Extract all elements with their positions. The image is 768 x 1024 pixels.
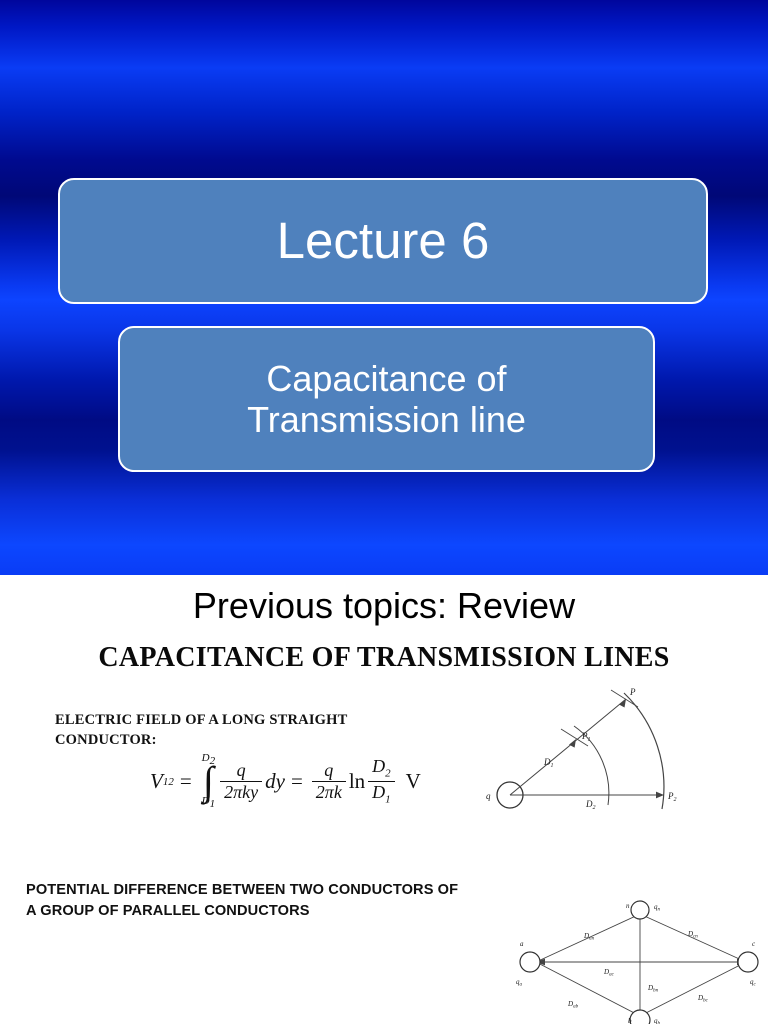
electric-field-label-line-1: ELECTRIC FIELD OF A LONG STRAIGHT xyxy=(55,712,348,728)
label-charge-q: q xyxy=(486,791,491,801)
label-point-p2: P2 xyxy=(667,791,677,803)
label-distance-d1: D1 xyxy=(543,757,554,769)
fraction-3-denominator: D1 xyxy=(368,781,395,806)
equipotential-arc-outer xyxy=(624,693,664,809)
fraction-q-over-2pi-k: q 2πk xyxy=(312,761,346,802)
arrowhead-p xyxy=(619,699,626,708)
potential-label-line-2: A GROUP OF PARALLEL CONDUCTORS xyxy=(26,903,310,919)
parallel-conductors-diagram: a qa n qn c qc b qb Dan Dcn Dac Dbn Dab … xyxy=(508,900,766,1024)
review-slide: Previous topics: Review CAPACITANCE OF T… xyxy=(0,575,768,1024)
electric-field-label-line-2: CONDUCTOR: xyxy=(55,732,157,748)
label-node-a: a xyxy=(520,940,524,948)
conductor-c-icon xyxy=(738,952,758,972)
label-charge-qc: qc xyxy=(750,978,757,988)
edge-a-b xyxy=(536,962,640,1016)
arrowhead-p1 xyxy=(569,739,576,748)
fraction-3-numerator: D2 xyxy=(368,757,395,781)
fraction-1-denominator: 2πky xyxy=(220,781,262,802)
subtitle-line-1: Capacitance of xyxy=(247,358,526,399)
electric-field-diagram: P P1 P2 D1 D2 q xyxy=(478,683,693,828)
conductor-b-icon xyxy=(630,1010,650,1024)
potential-difference-label: POTENTIAL DIFFERENCE BETWEEN TWO CONDUCT… xyxy=(26,880,546,922)
label-charge-qn: qn xyxy=(654,903,661,913)
title-slide: Lecture 6 Capacitance of Transmission li… xyxy=(0,0,768,575)
lecture-subtitle-text: Capacitance of Transmission line xyxy=(247,358,526,440)
label-distance-bc: Dbc xyxy=(697,994,709,1004)
label-distance-cn: Dcn xyxy=(687,930,698,940)
radial-line-to-p xyxy=(510,699,626,795)
formula-differential: dy xyxy=(265,769,285,794)
review-slide-heading: Previous topics: Review xyxy=(0,585,768,627)
formula-equals-2: = xyxy=(291,769,303,794)
formula-equals-1: = xyxy=(180,769,192,794)
electric-field-formula: V12 = D2 ∫ D1 q 2πky dy = q 2πk ln D2 D1… xyxy=(150,753,421,810)
fraction-q-over-2pi-k-y: q 2πky xyxy=(220,761,262,802)
label-node-n: n xyxy=(626,902,630,910)
label-distance-ac: Dac xyxy=(603,968,615,978)
fraction-d2-over-d1: D2 D1 xyxy=(368,757,395,806)
formula-lhs-sub: 12 xyxy=(163,776,174,788)
formula-unit-volts: V xyxy=(406,769,421,794)
label-charge-qb: qb xyxy=(654,1017,661,1024)
arrowhead-p2 xyxy=(656,792,664,799)
potential-label-line-1: POTENTIAL DIFFERENCE BETWEEN TWO CONDUCT… xyxy=(26,882,458,898)
label-distance-ab: Dab xyxy=(567,1000,579,1010)
label-distance-bn: Dbn xyxy=(647,984,659,994)
label-point-p1: P1 xyxy=(581,731,591,743)
label-distance-an: Dan xyxy=(583,932,595,942)
subtitle-line-2: Transmission line xyxy=(247,399,526,440)
integral-glyph: ∫ xyxy=(203,767,214,796)
formula-natural-log: ln xyxy=(349,769,365,794)
fraction-2-denominator: 2πk xyxy=(312,781,346,802)
lecture-title-box[interactable]: Lecture 6 xyxy=(58,178,708,304)
label-distance-d2: D2 xyxy=(585,799,596,811)
fraction-2-numerator: q xyxy=(320,761,337,781)
lecture-subtitle-box[interactable]: Capacitance of Transmission line xyxy=(118,326,655,472)
label-point-p: P xyxy=(629,687,636,697)
electric-field-label: ELECTRIC FIELD OF A LONG STRAIGHT CONDUC… xyxy=(55,711,385,750)
label-node-c: c xyxy=(752,940,756,948)
label-node-b: b xyxy=(628,1017,632,1024)
conductor-a-icon xyxy=(520,952,540,972)
conductor-n-icon xyxy=(631,901,649,919)
capacitance-section-heading: CAPACITANCE OF TRANSMISSION LINES xyxy=(0,642,768,674)
lecture-title-text: Lecture 6 xyxy=(277,212,490,270)
label-charge-qa: qa xyxy=(516,978,523,988)
fraction-1-numerator: q xyxy=(233,761,250,781)
formula-lhs-var: V xyxy=(150,769,163,794)
integral-lower-limit: D1 xyxy=(202,796,215,810)
integral-symbol-group: D2 ∫ D1 xyxy=(202,753,215,810)
